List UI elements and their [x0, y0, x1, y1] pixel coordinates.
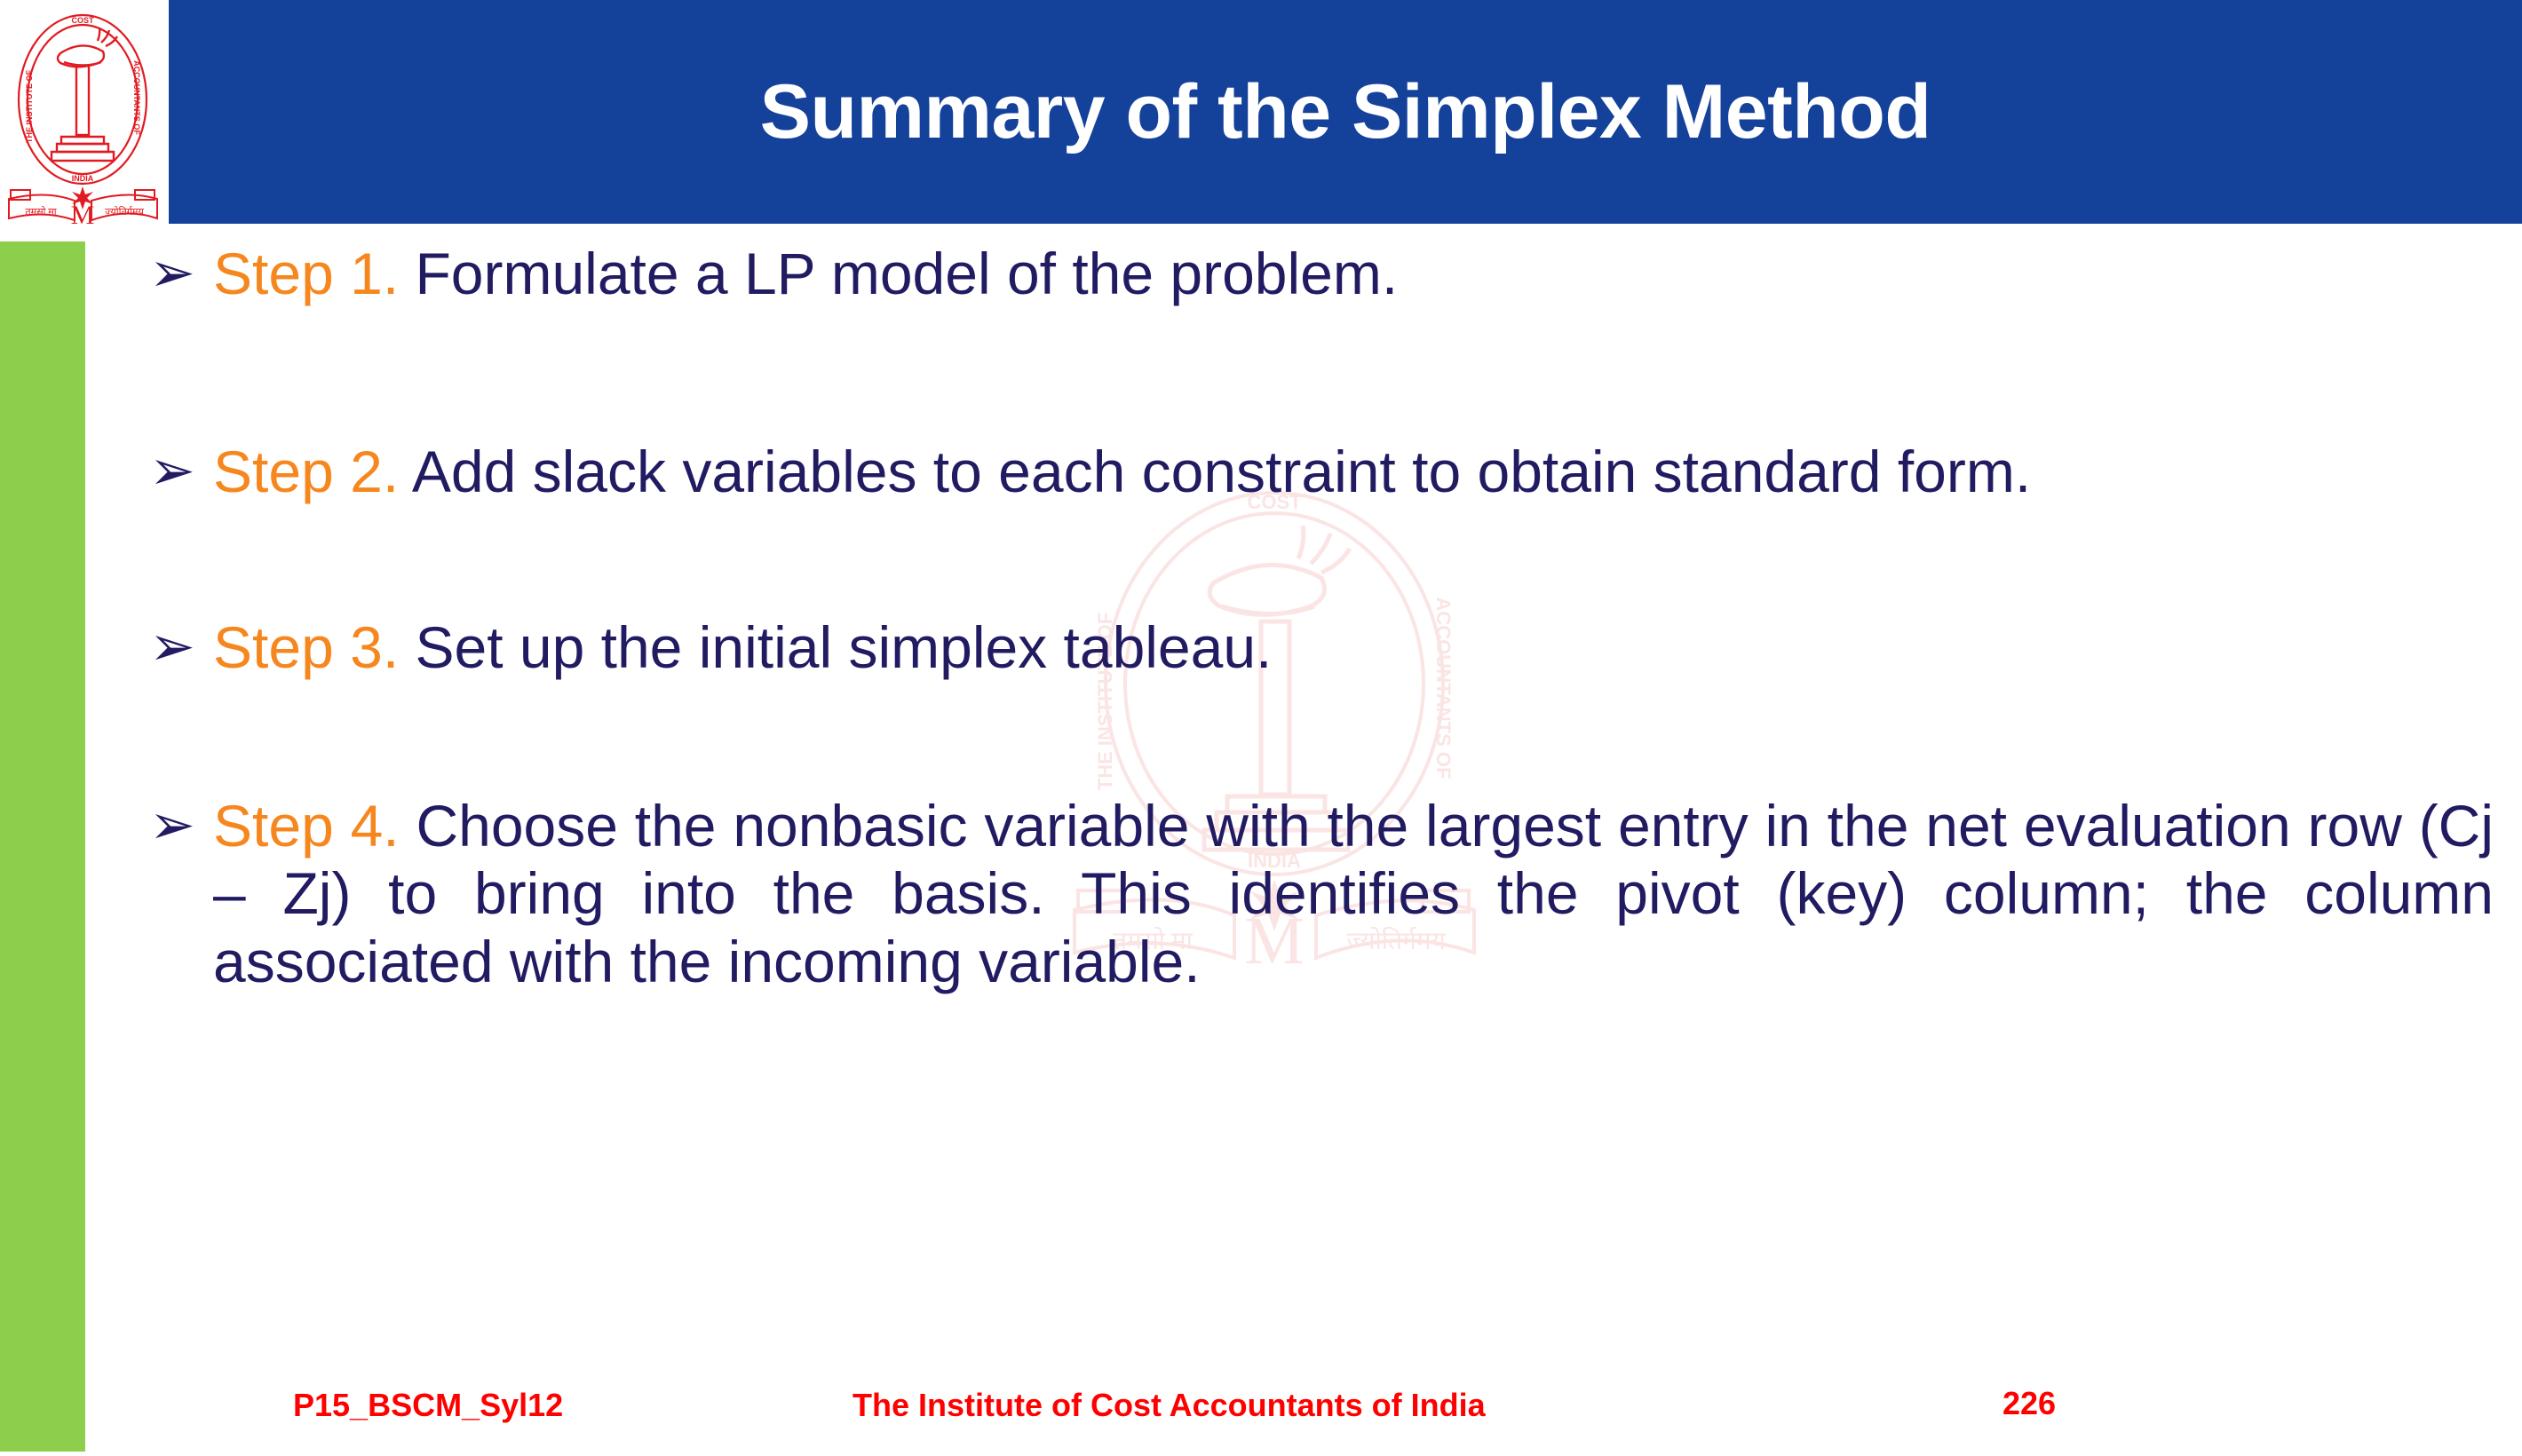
list-item: ➢ Step 1. Formulate a LP model of the pr…: [149, 240, 2494, 308]
bullet-text: Step 2. Add slack variables to each cons…: [213, 438, 2494, 506]
bullet-text: Step 3. Set up the initial simplex table…: [213, 613, 2494, 682]
list-item: ➢ Step 4. Choose the nonbasic variable w…: [149, 792, 2494, 996]
bullet-text: Step 4. Choose the nonbasic variable wit…: [213, 792, 2494, 996]
svg-text:ACCOUNTANTS OF: ACCOUNTANTS OF: [132, 60, 141, 135]
step-label: Step 4.: [213, 793, 400, 859]
arrow-bullet-icon: ➢: [149, 438, 213, 499]
step-text: Set up the initial simplex tableau.: [399, 614, 1272, 680]
page-number: 226: [2003, 1385, 2056, 1422]
spacer: [149, 719, 2494, 792]
step-text: Choose the nonbasic variable with the la…: [213, 793, 2494, 994]
svg-text:COST: COST: [71, 16, 94, 25]
footer-subject-code: P15_BSCM_Syl12: [293, 1387, 563, 1424]
footer: P15_BSCM_Syl12 The Institute of Cost Acc…: [0, 1381, 2522, 1444]
svg-text:ज्योतिर्गमय: ज्योतिर्गमय: [105, 206, 144, 218]
page-title: Summary of the Simplex Method: [169, 0, 2522, 224]
arrow-bullet-icon: ➢: [149, 792, 213, 853]
svg-text:M: M: [71, 201, 95, 230]
step-text: Add slack variables to each constraint t…: [399, 439, 2031, 504]
svg-text:INDIA: INDIA: [72, 174, 94, 183]
step-label: Step 2.: [213, 439, 399, 504]
bullet-text: Step 1. Formulate a LP model of the prob…: [213, 240, 2494, 308]
step-label: Step 1.: [213, 241, 399, 306]
left-green-accent-band: [0, 241, 85, 1452]
spacer: [149, 345, 2494, 438]
arrow-bullet-icon: ➢: [149, 240, 213, 301]
bullet-list: ➢ Step 1. Formulate a LP model of the pr…: [149, 240, 2494, 1385]
slide: Summary of the Simplex Method: [0, 0, 2522, 1456]
footer-institute-name: The Institute of Cost Accountants of Ind…: [853, 1387, 1486, 1424]
svg-text:THE INSTITUTE OF: THE INSTITUTE OF: [25, 70, 34, 144]
spacer: [149, 542, 2494, 613]
step-label: Step 3.: [213, 614, 399, 680]
list-item: ➢ Step 2. Add slack variables to each co…: [149, 438, 2494, 506]
arrow-bullet-icon: ➢: [149, 613, 213, 675]
svg-text:तमसो मा: तमसो मा: [25, 206, 56, 218]
institute-seal-logo-icon: COST THE INSTITUTE OF ACCOUNTANTS OF IND…: [5, 2, 161, 231]
list-item: ➢ Step 3. Set up the initial simplex tab…: [149, 613, 2494, 682]
step-text: Formulate a LP model of the problem.: [399, 241, 1398, 306]
